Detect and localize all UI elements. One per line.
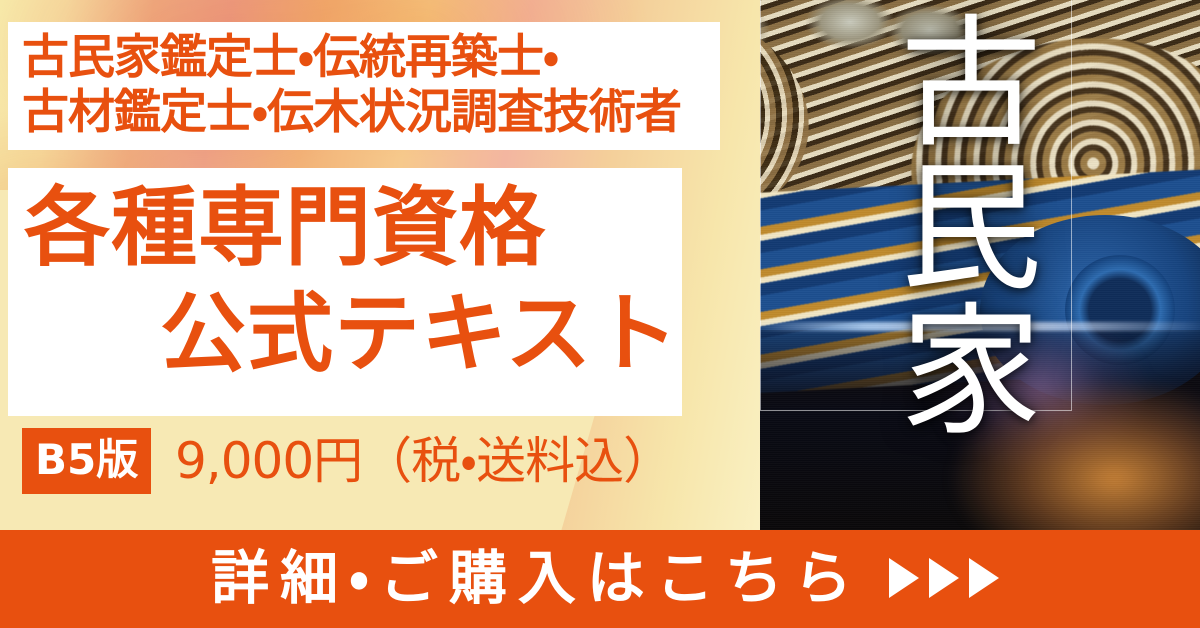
promo-banner: 古民家 伝統構法 古民家活用のための調査と再生の 古民家鑑定士・伝統再築士・ 古…: [0, 0, 1200, 628]
triangle-right-icon: [929, 558, 959, 598]
title-line-1: 各種専門資格: [24, 180, 546, 276]
cta-label: 詳細・ご購入はこちら: [211, 549, 863, 607]
price-text: 9,000円（税・送料込）: [175, 430, 672, 492]
headline-text: 古民家鑑定士・伝統再築士・ 古材鑑定士・伝木状況調査技術者: [22, 30, 681, 140]
cover-title: 古民家: [790, 8, 1040, 440]
format-badge: B5版: [22, 428, 151, 494]
cta-arrows: [889, 558, 999, 598]
triangle-right-icon: [889, 558, 919, 598]
cta-button[interactable]: 詳細・ご購入はこちら: [0, 530, 1200, 628]
title-line-2: 公式テキスト: [160, 286, 679, 382]
title-panel: 各種専門資格 公式テキスト: [8, 168, 682, 416]
headline-panel: 古民家鑑定士・伝統再築士・ 古材鑑定士・伝木状況調査技術者: [8, 22, 720, 150]
triangle-right-icon: [969, 558, 999, 598]
